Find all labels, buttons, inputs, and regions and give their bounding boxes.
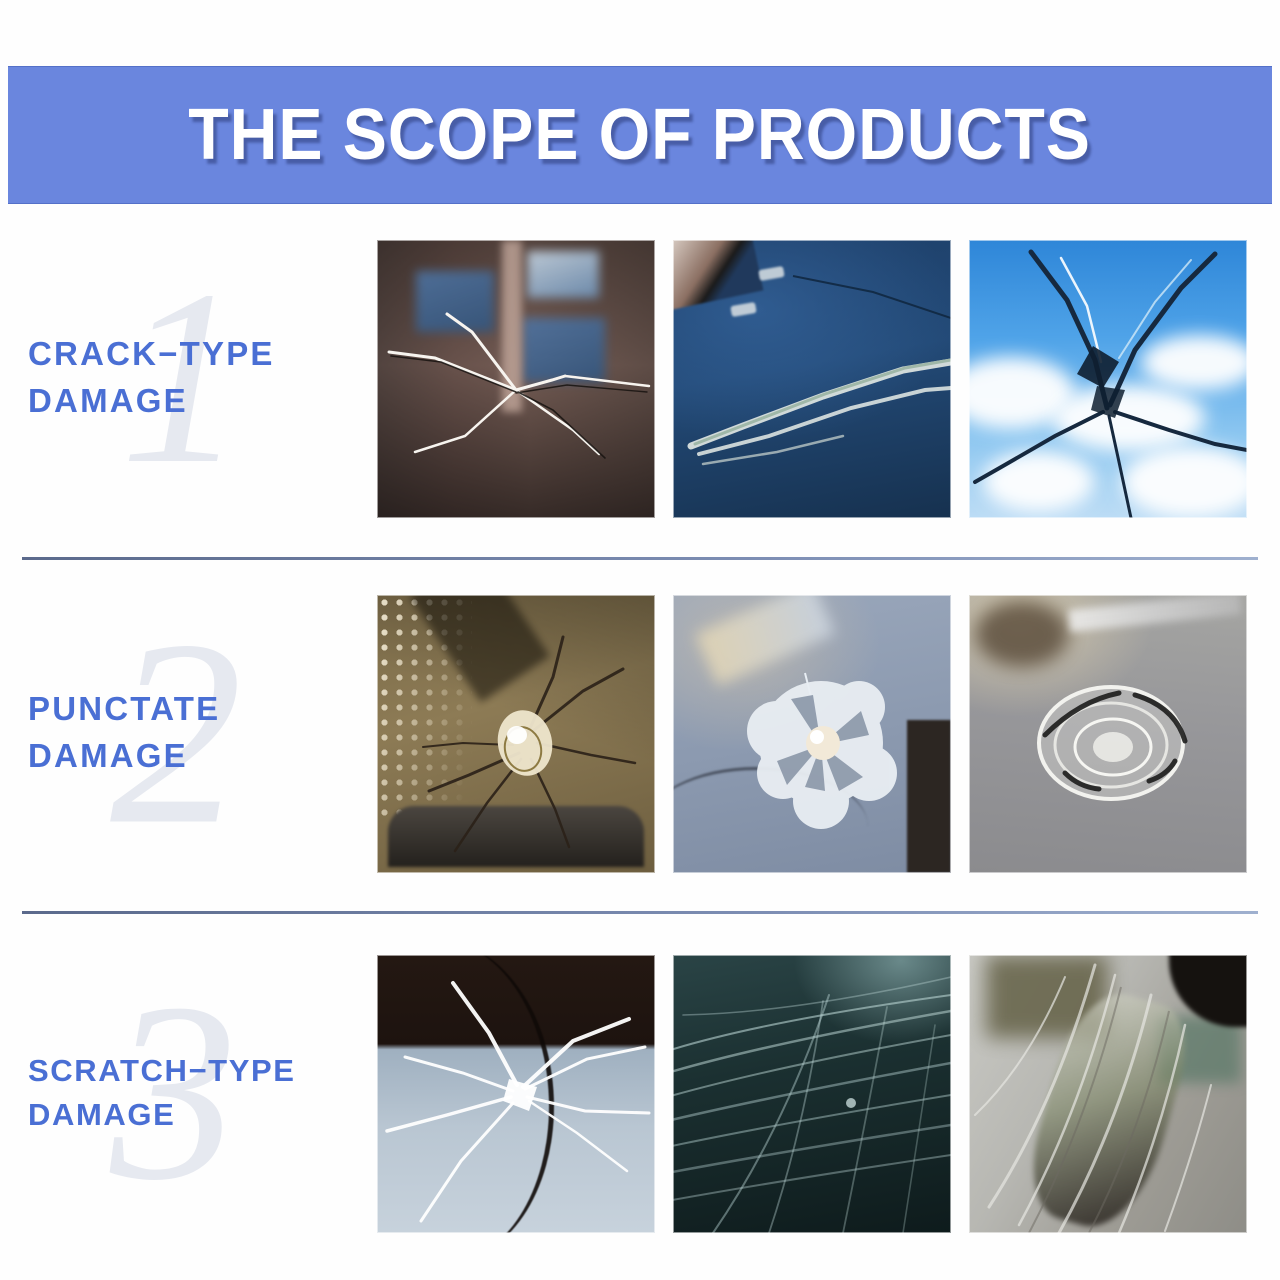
row-label-line-2: DAMAGE: [28, 733, 373, 780]
row-label-punctate: PUNCTATE DAMAGE: [28, 686, 373, 780]
chip-lines-overlay: [377, 595, 655, 873]
scratch-lines-overlay: [969, 955, 1247, 1233]
row-label-line-1: PUNCTATE: [28, 686, 373, 733]
row-label-scratch-type: SCRATCH−TYPE DAMAGE: [28, 1049, 373, 1137]
crack-lines-overlay: [673, 240, 951, 518]
chip-lines-overlay: [969, 595, 1247, 873]
scratch-lines-overlay: [377, 955, 655, 1233]
damage-row-crack-type: 1 CRACK−TYPE DAMAGE: [0, 228, 1280, 528]
row-label-crack-type: CRACK−TYPE DAMAGE: [28, 331, 373, 425]
damage-row-scratch-type: 3 SCRATCH−TYPE DAMAGE: [0, 943, 1280, 1243]
tile-punctate-bullseye-crater[interactable]: [969, 595, 1247, 873]
tile-group-scratch-type: [377, 955, 1280, 1233]
tile-crack-windshield-building-reflection[interactable]: [377, 240, 655, 518]
scratch-lines-overlay: [673, 955, 951, 1233]
crack-lines-overlay: [377, 240, 655, 518]
row-label-line-1: CRACK−TYPE: [28, 331, 373, 378]
tile-group-punctate: [377, 595, 1280, 873]
row-label-line-2: DAMAGE: [28, 1093, 373, 1137]
row-label-line-1: SCRATCH−TYPE: [28, 1049, 373, 1093]
tile-scratch-radiating-white-lines[interactable]: [377, 955, 655, 1233]
tile-punctate-flower-chip[interactable]: [673, 595, 951, 873]
infographic-page: THE SCOPE OF PRODUCTS 1 CRACK−TYPE DAMAG…: [0, 0, 1280, 1280]
tile-crack-long-line-blue-glass[interactable]: [673, 240, 951, 518]
tile-punctate-star-chip-frit-band[interactable]: [377, 595, 655, 873]
chip-lines-overlay: [673, 595, 951, 873]
row-divider-1: [22, 557, 1258, 560]
header-banner: THE SCOPE OF PRODUCTS: [8, 66, 1272, 204]
row-divider-2: [22, 911, 1258, 914]
tile-scratch-headlight-streaks[interactable]: [969, 955, 1247, 1233]
page-title: THE SCOPE OF PRODUCTS: [189, 94, 1092, 176]
tile-crack-radiating-sky[interactable]: [969, 240, 1247, 518]
crack-lines-overlay: [969, 240, 1247, 518]
tile-scratch-fine-parallel-lines[interactable]: [673, 955, 951, 1233]
tile-group-crack-type: [377, 240, 1280, 518]
damage-row-punctate: 2 PUNCTATE DAMAGE: [0, 583, 1280, 883]
row-label-line-2: DAMAGE: [28, 378, 373, 425]
